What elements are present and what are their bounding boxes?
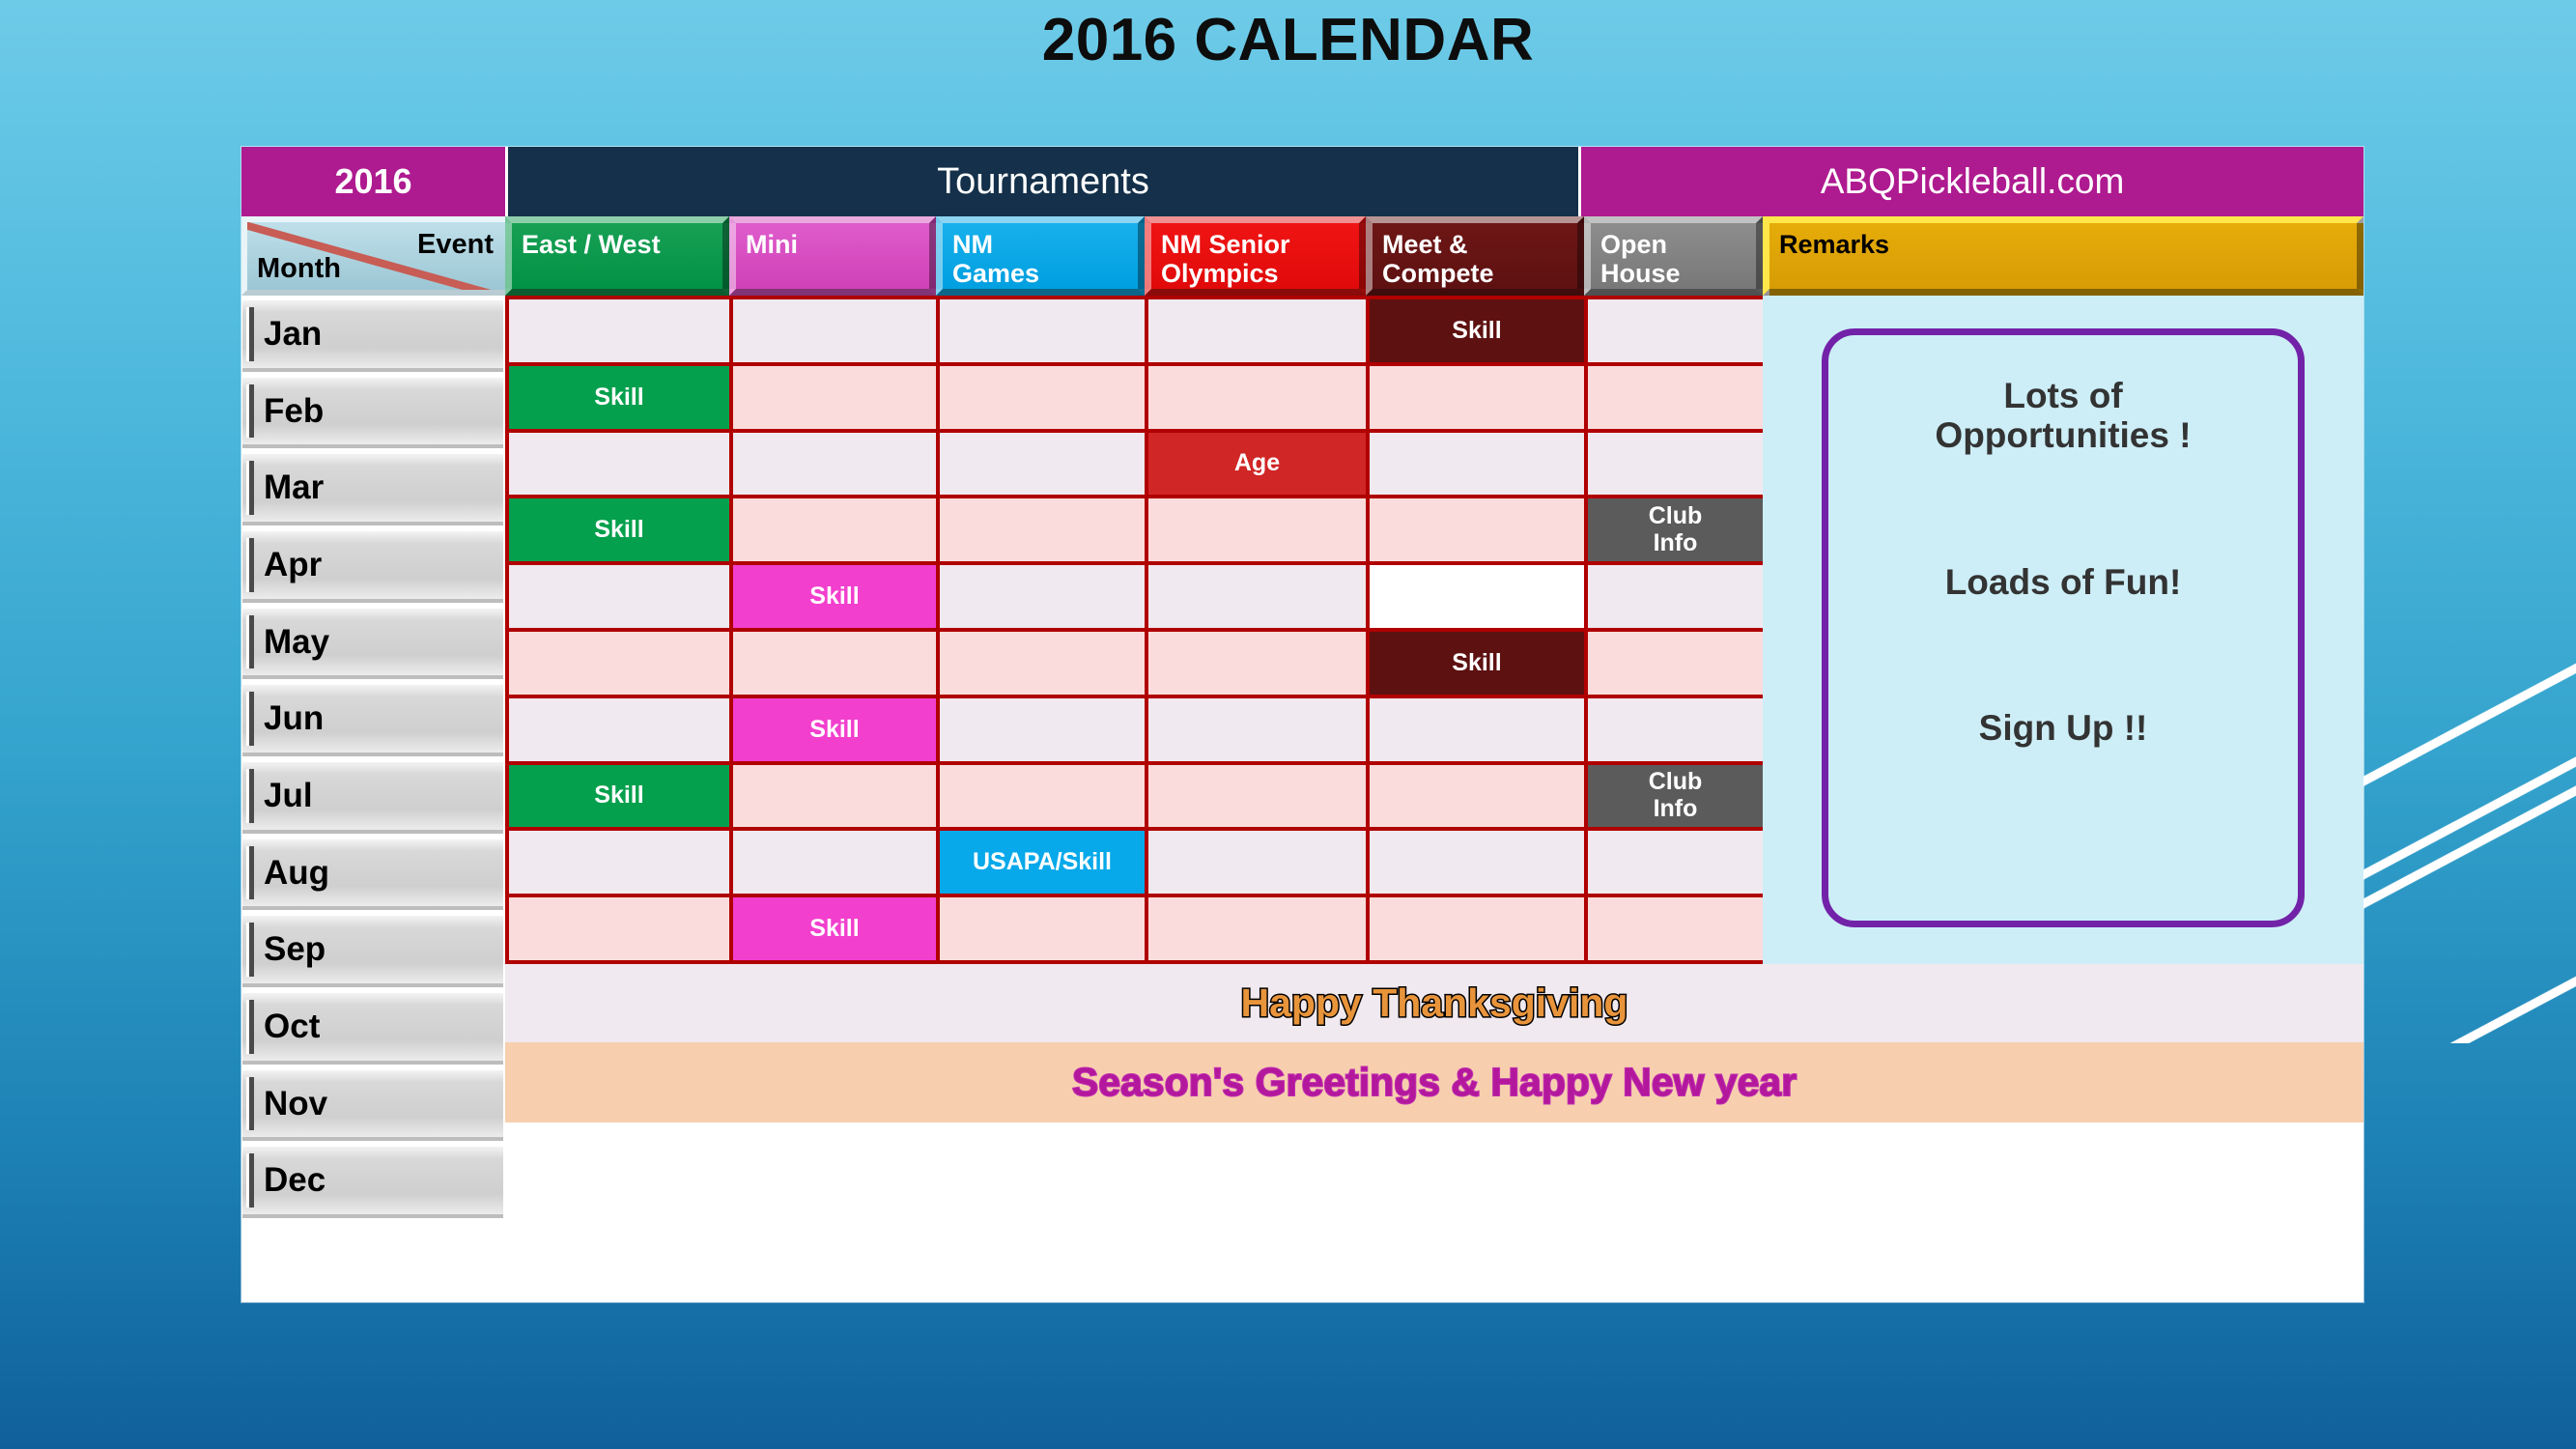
event-cell [1588, 366, 1767, 433]
december-banner-row: Season's Greetings & Happy New year [505, 1042, 2364, 1122]
event-grid: SkillSkillAgeSkillClubInfoSkillSkillSkil… [505, 296, 1763, 964]
event-cell [733, 299, 940, 366]
column-header-mini[interactable]: Mini [729, 216, 936, 296]
event-cell [1370, 498, 1588, 565]
event-cell [940, 498, 1148, 565]
column-header-label: Mini [746, 230, 798, 259]
calendar-body: Jan Feb Mar Apr May Jun Jul Aug Sep Oct … [241, 296, 2364, 1219]
thanksgiving-message: Happy Thanksgiving [1241, 980, 1628, 1026]
month-label: Dec [242, 1161, 326, 1200]
month-label-apr[interactable]: Apr [242, 527, 503, 603]
column-header-label-line1: NM [952, 230, 1138, 259]
event-cell [1588, 433, 1767, 499]
month-label: Oct [242, 1008, 320, 1046]
month-label-oct[interactable]: Oct [242, 989, 503, 1065]
event-cell [1148, 765, 1370, 832]
event-cell [1588, 632, 1767, 698]
event-cell[interactable]: Skill [733, 897, 940, 964]
month-label: Feb [242, 392, 324, 431]
event-cell [1148, 831, 1370, 897]
grid-and-remarks: SkillSkillAgeSkillClubInfoSkillSkillSkil… [505, 296, 2364, 1219]
calendar-table: 2016 Tournaments ABQPickleball.com Event… [241, 147, 2364, 1302]
event-cell [1370, 433, 1588, 499]
month-label-feb[interactable]: Feb [242, 374, 503, 449]
month-label-nov[interactable]: Nov [242, 1066, 503, 1142]
corner-header-event-month: Event Month [241, 216, 505, 296]
event-cell [1148, 632, 1370, 698]
event-cell [733, 765, 940, 832]
event-cell [509, 897, 733, 964]
event-cell [733, 831, 940, 897]
column-header-label-line2: Olympics [1161, 259, 1359, 288]
event-cell [733, 632, 940, 698]
month-label: Jun [242, 699, 324, 738]
event-cell[interactable]: ClubInfo [1588, 765, 1767, 832]
event-cell [733, 433, 940, 499]
column-header-nm-senior-olympics[interactable]: NM Senior Olympics [1145, 216, 1366, 296]
event-cell [940, 765, 1148, 832]
month-label: Apr [242, 546, 322, 584]
event-cell [1588, 299, 1767, 366]
event-cell [1370, 831, 1588, 897]
seasons-greetings-message: Season's Greetings & Happy New year [1072, 1060, 1797, 1105]
event-cell-line2: Info [1654, 796, 1698, 823]
event-cell-line1: Club [1649, 503, 1703, 530]
event-cell [1370, 565, 1588, 632]
event-cell [1588, 698, 1767, 765]
month-label: Jul [242, 777, 313, 815]
event-cell[interactable]: USAPA/Skill [940, 831, 1148, 897]
column-header-open-house[interactable]: Open House [1584, 216, 1763, 296]
remarks-text: Opportunities ! [1935, 415, 2191, 455]
event-cell [1148, 565, 1370, 632]
event-cell [509, 632, 733, 698]
event-cell[interactable]: Age [1148, 433, 1370, 499]
event-cell [1148, 498, 1370, 565]
month-label-jul[interactable]: Jul [242, 758, 503, 834]
event-cell [940, 897, 1148, 964]
event-cell [1588, 897, 1767, 964]
event-cell[interactable]: Skill [509, 765, 733, 832]
month-label-dec[interactable]: Dec [242, 1143, 503, 1218]
month-label-aug[interactable]: Aug [242, 836, 503, 911]
column-header-label-line1: NM Senior [1161, 230, 1359, 259]
event-cell [1370, 897, 1588, 964]
month-label: Nov [242, 1085, 327, 1123]
event-cell[interactable]: Skill [1370, 632, 1588, 698]
banner-year: 2016 [241, 147, 508, 216]
november-banner-row: Happy Thanksgiving [505, 964, 2364, 1042]
column-header-label-line1: Open [1600, 230, 1756, 259]
month-label-jun[interactable]: Jun [242, 681, 503, 756]
event-cell [509, 831, 733, 897]
event-cell[interactable]: Skill [1370, 299, 1588, 366]
column-header-remarks[interactable]: Remarks [1763, 216, 2364, 296]
event-cell [1588, 565, 1767, 632]
month-label: Aug [242, 854, 329, 893]
month-label: May [242, 623, 329, 662]
column-header-meet-compete[interactable]: Meet & Compete [1366, 216, 1584, 296]
event-cell [940, 299, 1148, 366]
corner-header-event-label: Event [417, 229, 494, 260]
event-cell [733, 366, 940, 433]
month-label-jan[interactable]: Jan [242, 297, 503, 372]
event-cell-line2: Info [1654, 530, 1698, 557]
column-header-label: Remarks [1779, 230, 1889, 259]
event-cell[interactable]: Skill [509, 366, 733, 433]
remarks-text: Lots of [1935, 376, 2191, 415]
event-cell [733, 498, 940, 565]
event-cell [1148, 366, 1370, 433]
month-label-sep[interactable]: Sep [242, 912, 503, 987]
event-cell[interactable]: Skill [509, 498, 733, 565]
column-header-label-line2: House [1600, 259, 1756, 288]
event-cell [509, 698, 733, 765]
event-cell [1370, 765, 1588, 832]
event-cell [940, 698, 1148, 765]
calendar-banner: 2016 Tournaments ABQPickleball.com [241, 147, 2364, 216]
event-cell[interactable]: Skill [733, 565, 940, 632]
column-header-east-west[interactable]: East / West [505, 216, 729, 296]
event-grid-area: SkillSkillAgeSkillClubInfoSkillSkillSkil… [505, 296, 2364, 964]
event-cell-line1: Club [1649, 769, 1703, 796]
event-cell [1148, 698, 1370, 765]
event-cell [1148, 299, 1370, 366]
event-cell [940, 565, 1148, 632]
month-label-may[interactable]: May [242, 605, 503, 680]
event-cell [940, 433, 1148, 499]
column-header-label-line2: Compete [1382, 259, 1577, 288]
column-header-row: Event Month East / West Mini NM Games NM… [241, 216, 2364, 296]
event-cell [940, 632, 1148, 698]
column-header-nm-games[interactable]: NM Games [936, 216, 1145, 296]
column-header-label-line2: Games [952, 259, 1138, 288]
event-cell[interactable]: ClubInfo [1588, 498, 1767, 565]
event-cell[interactable]: Skill [733, 698, 940, 765]
banner-tournaments: Tournaments [508, 147, 1581, 216]
event-cell [940, 366, 1148, 433]
remarks-line-3[interactable]: Sign Up !! [1979, 708, 2148, 748]
corner-header-month-label: Month [257, 253, 341, 284]
remarks-line-2: Loads of Fun! [1945, 562, 2182, 602]
column-header-label-line1: Meet & [1382, 230, 1577, 259]
month-label: Sep [242, 930, 326, 969]
event-cell [509, 299, 733, 366]
banner-website[interactable]: ABQPickleball.com [1581, 147, 2364, 216]
remarks-box: Lots of Opportunities ! Loads of Fun! Si… [1822, 328, 2305, 927]
column-header-label: East / West [522, 230, 661, 259]
page-title: 2016 CALENDAR [0, 6, 2576, 74]
event-cell [1370, 366, 1588, 433]
remarks-panel: Lots of Opportunities ! Loads of Fun! Si… [1763, 296, 2364, 964]
event-cell [1148, 897, 1370, 964]
month-column: Jan Feb Mar Apr May Jun Jul Aug Sep Oct … [241, 296, 505, 1219]
month-label: Jan [242, 315, 322, 354]
month-label: Mar [242, 469, 324, 507]
month-label-mar[interactable]: Mar [242, 450, 503, 526]
event-cell [1588, 831, 1767, 897]
event-cell [1370, 698, 1588, 765]
event-cell [509, 433, 733, 499]
remarks-line-1: Lots of Opportunities ! [1935, 376, 2191, 456]
event-cell [509, 565, 733, 632]
